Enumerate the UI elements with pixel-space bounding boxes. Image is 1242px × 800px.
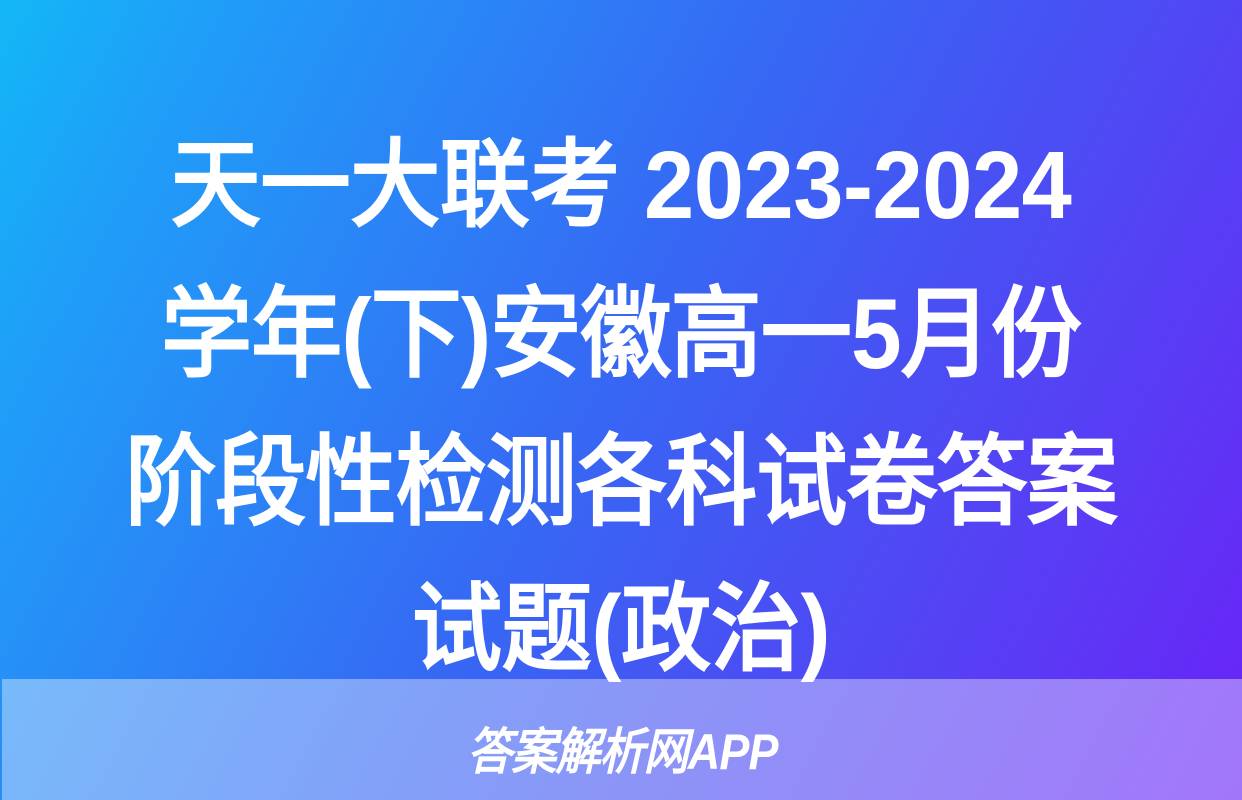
- title-line-3: 阶段性检测各科试卷答案: [92, 408, 1150, 556]
- poster-canvas: 天一大联考 2023-2024 学年(下)安徽高一5月份 阶段性检测各科试卷答案…: [0, 0, 1242, 800]
- brand-watermark-label: 答案解析网APP: [467, 712, 777, 784]
- page-title: 天一大联考 2023-2024 学年(下)安徽高一5月份 阶段性检测各科试卷答案…: [0, 112, 1242, 704]
- title-line-2: 学年(下)安徽高一5月份: [92, 260, 1150, 408]
- brand-watermark-band: 答案解析网APP: [2, 679, 1242, 800]
- title-line-1: 天一大联考 2023-2024: [81, 112, 1162, 260]
